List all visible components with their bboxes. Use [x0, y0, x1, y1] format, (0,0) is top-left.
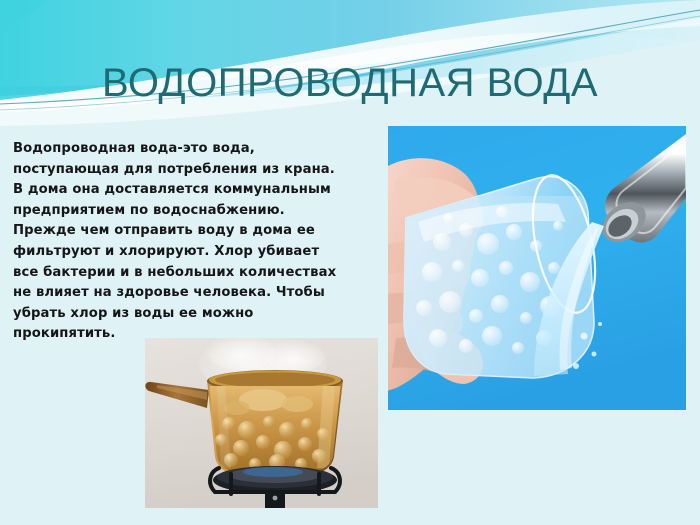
slide-body-text: Водопроводная вода-это вода, поступающая… [13, 139, 385, 345]
boiling-pot-photo [145, 338, 378, 508]
page-title: ВОДОПРОВОДНАЯ ВОДА [0, 62, 700, 105]
tap-water-glass-photo [388, 126, 686, 410]
presentation-slide: ВОДОПРОВОДНАЯ ВОДА Водопроводная вода-эт… [0, 0, 700, 525]
